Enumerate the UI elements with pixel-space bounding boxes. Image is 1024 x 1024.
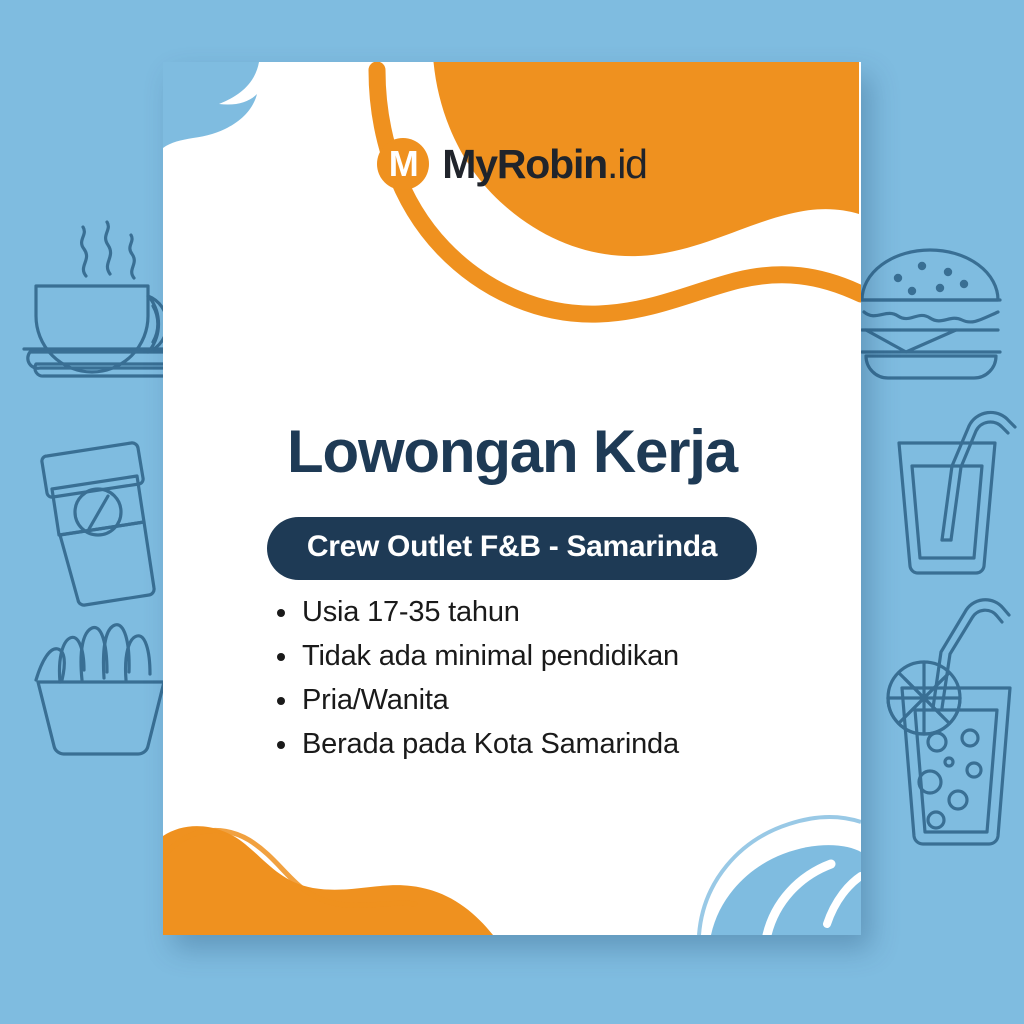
poster-content: M MyRobin.id Lowongan Kerja Crew Outlet … [163, 62, 861, 935]
brand-suffix: .id [607, 141, 647, 187]
list-item: Pria/Wanita [271, 678, 791, 722]
hamburger-icon [860, 250, 1000, 378]
brand-wordmark: MyRobin.id [442, 141, 646, 188]
brand-logo: M MyRobin.id [163, 138, 861, 190]
list-item: Usia 17-35 tahun [271, 590, 791, 634]
list-item: Tidak ada minimal pendidikan [271, 634, 791, 678]
myrobin-logo-mark-icon: M [377, 138, 429, 190]
takeaway-coffee-cup-icon [42, 443, 154, 605]
page-title: Lowongan Kerja [163, 420, 861, 483]
requirements-list: Usia 17-35 tahun Tidak ada minimal pendi… [271, 590, 791, 766]
logo-mark-letter: M [389, 146, 418, 182]
glass-with-straw-icon [899, 412, 1015, 573]
french-fries-basket-icon [36, 625, 164, 754]
list-item: Berada pada Kota Samarinda [271, 722, 791, 766]
status-badge: Crew Outlet F&B - Samarinda [267, 517, 757, 580]
position-badge-wrap: Crew Outlet F&B - Samarinda [163, 517, 861, 580]
brand-name: MyRobin [442, 141, 607, 187]
poster-card: M MyRobin.id Lowongan Kerja Crew Outlet … [163, 62, 861, 935]
soda-glass-lemon-icon [888, 600, 1010, 844]
